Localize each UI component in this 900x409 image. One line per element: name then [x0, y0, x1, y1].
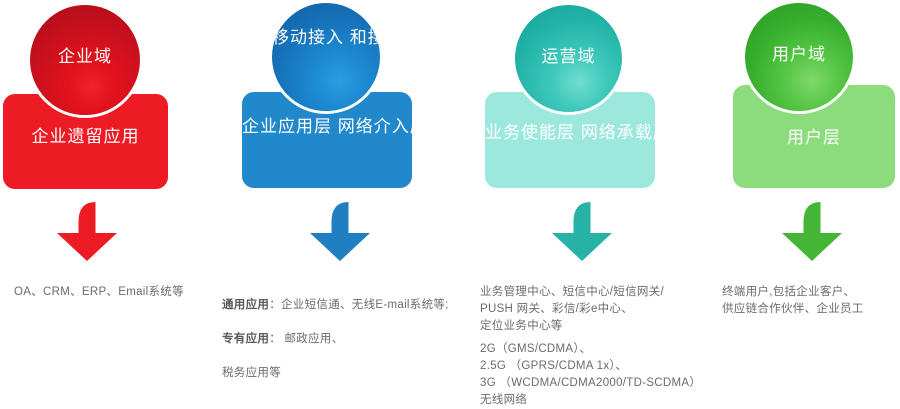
column-mobile-access-domain: 企业应用层 网络介入层 移动接入 和接入域 通用应用：企业短信通、无线E-mai…: [230, 0, 460, 404]
caption-user-domain: 终端用户,包括企业客户、 供应链合作伙伴、企业员工: [722, 284, 900, 318]
caption-text-general-app: ：企业短信通、无线E-mail系统等;: [269, 299, 448, 311]
caption-lead-general-app: 通用应用: [222, 299, 269, 311]
caption-text-proprietary-app: ： 邮政应用、: [269, 333, 343, 345]
caption-lead-proprietary-app: 专有应用: [222, 333, 269, 345]
down-arrow-icon: [780, 200, 850, 264]
column-user-domain: 用户层 用户域 终端用户,包括企业客户、 供应链合作伙伴、企业员工: [690, 0, 900, 404]
caption-enterprise-domain: OA、CRM、ERP、Email系统等: [14, 284, 229, 301]
panel-label: 业务使能层 网络承载层: [485, 120, 655, 146]
sphere-label: 运营域: [515, 45, 622, 68]
down-arrow-icon: [550, 200, 620, 264]
panel-label: 用户层: [733, 125, 895, 151]
sphere-mobile-access-domain[interactable]: 移动接入 和接入域: [272, 3, 380, 111]
sphere-label: 移动接入 和接入域: [272, 26, 380, 49]
panel-label: 企业遗留应用: [3, 124, 168, 150]
caption-mobile-access-domain: 通用应用：企业短信通、无线E-mail系统等; 专有应用： 邮政应用、 税务应用…: [222, 280, 497, 399]
sphere-enterprise-domain[interactable]: 企业域: [30, 5, 140, 115]
down-arrow-icon: [308, 200, 378, 264]
caption-line-2: 专有应用： 邮政应用、: [222, 331, 497, 348]
caption-line-3: 税务应用等: [222, 365, 497, 382]
column-operation-domain: 业务使能层 网络承载层 运营域 业务管理中心、短信中心/短信网关/ PUSH 网…: [460, 0, 690, 404]
sphere-user-domain[interactable]: 用户域: [745, 3, 853, 111]
sphere-label: 用户域: [745, 43, 853, 66]
caption-line-1: 通用应用：企业短信通、无线E-mail系统等;: [222, 297, 497, 314]
sphere-operation-domain[interactable]: 运营域: [515, 5, 622, 112]
panel-label: 企业应用层 网络介入层: [242, 114, 412, 140]
diagram-canvas: 企业遗留应用 企业域 OA、CRM、ERP、Email系统等 企业应用层 网络介…: [0, 0, 900, 404]
sphere-label: 企业域: [30, 45, 140, 68]
down-arrow-icon: [55, 200, 125, 264]
column-enterprise-domain: 企业遗留应用 企业域 OA、CRM、ERP、Email系统等: [0, 0, 230, 404]
